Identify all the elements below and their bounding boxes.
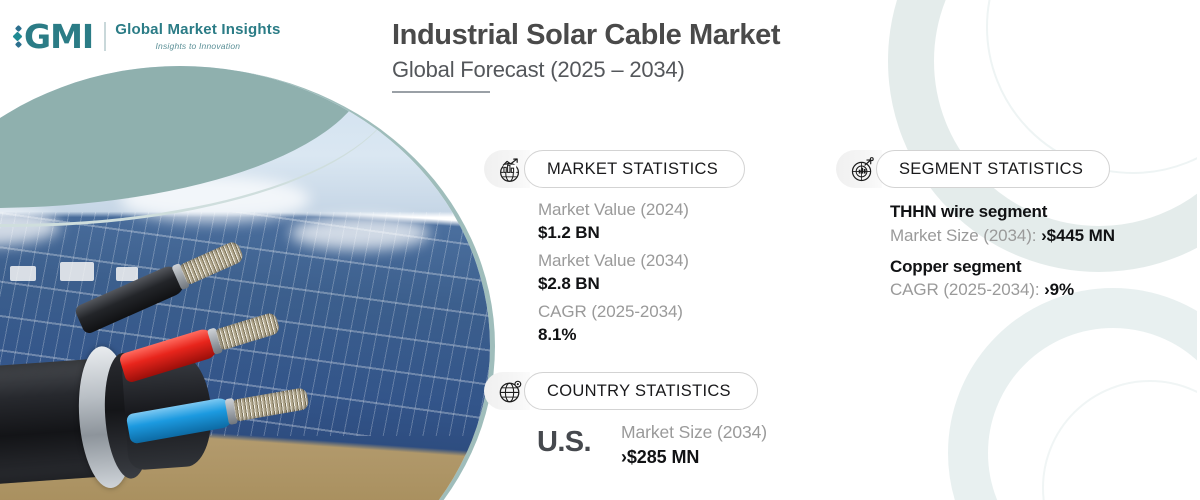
- segment-metric-value: ›9%: [1044, 280, 1074, 299]
- logo-diamond-cluster: [14, 26, 21, 47]
- horizon-building: [116, 267, 138, 281]
- segment-metric-value: ›$445 MN: [1041, 226, 1115, 245]
- segment-metric-label: Market Size (2034):: [890, 226, 1036, 245]
- hero-image-panel: sales@gminsights.com www.gminsights.com: [0, 66, 490, 500]
- logo-diamond: [15, 41, 22, 48]
- country-statistics-pill[interactable]: COUNTRY STATISTICS: [524, 372, 758, 410]
- market-statistics-pill[interactable]: MARKET STATISTICS: [524, 150, 745, 188]
- logo-tagline: Insights to Innovation: [115, 41, 280, 51]
- segment-metric-row: CAGR (2025-2034): ›9%: [890, 278, 1115, 302]
- market-statistics-rows: Market Value (2024) $1.2 BN Market Value…: [538, 199, 689, 352]
- title-underline: [392, 91, 490, 93]
- logo-diamond: [15, 25, 22, 32]
- segment-name: THHN wire segment: [890, 200, 1115, 224]
- solar-cable-illustration: [0, 282, 295, 500]
- logo-diamond: [13, 32, 23, 42]
- gmi-logo[interactable]: GMI Global Market Insights Insights to I…: [14, 20, 280, 53]
- segment-statistics-badge[interactable]: SEGMENT STATISTICS: [836, 150, 1110, 188]
- cloud-shape: [290, 216, 430, 250]
- market-row-label: Market Value (2024): [538, 199, 689, 222]
- logo-company-name: Global Market Insights: [115, 22, 280, 39]
- segment-name: Copper segment: [890, 255, 1115, 279]
- decorative-ring-top-right: [986, 0, 1200, 174]
- segment-statistics-rows: THHN wire segment Market Size (2034): ›$…: [890, 200, 1115, 309]
- horizon-building: [10, 266, 36, 281]
- segment-metric-label: CAGR (2025-2034):: [890, 280, 1039, 299]
- market-statistics-label: MARKET STATISTICS: [547, 160, 718, 179]
- country-metric-value: ›$285 MN: [621, 445, 767, 469]
- logo-mark: GMI: [14, 20, 93, 53]
- logo-initials: GMI: [24, 20, 93, 53]
- country-code: U.S.: [537, 421, 591, 457]
- market-row-label: CAGR (2025-2034): [538, 301, 689, 324]
- horizon-building: [60, 262, 94, 281]
- infographic-canvas: sales@gminsights.com www.gminsights.com: [0, 0, 1200, 500]
- segment-metric-row: Market Size (2034): ›$445 MN: [890, 224, 1115, 248]
- header-block: Industrial Solar Cable Market Global For…: [392, 18, 1012, 93]
- market-row-value: $2.8 BN: [538, 273, 689, 296]
- country-statistics-badge[interactable]: COUNTRY STATISTICS: [484, 372, 758, 410]
- page-title: Industrial Solar Cable Market: [392, 18, 1012, 53]
- country-statistics-content: U.S. Market Size (2034) ›$285 MN: [537, 421, 767, 469]
- decorative-arc-bottom-right: [948, 288, 1200, 500]
- page-subtitle: Global Forecast (2025 – 2034): [392, 57, 1012, 83]
- market-statistics-badge[interactable]: MARKET STATISTICS: [484, 150, 745, 188]
- decorative-ring-bottom-right: [1042, 380, 1200, 500]
- country-metric-label: Market Size (2034): [621, 421, 767, 445]
- logo-wordmark: Global Market Insights Insights to Innov…: [104, 22, 280, 51]
- country-statistics-label: COUNTRY STATISTICS: [547, 382, 731, 401]
- market-row-label: Market Value (2034): [538, 250, 689, 273]
- segment-statistics-pill[interactable]: SEGMENT STATISTICS: [876, 150, 1110, 188]
- segment-statistics-label: SEGMENT STATISTICS: [899, 160, 1083, 179]
- market-row-value: $1.2 BN: [538, 222, 689, 245]
- wire-copper-strands: [215, 311, 281, 350]
- market-row-value: 8.1%: [538, 324, 689, 347]
- country-metric-block: Market Size (2034) ›$285 MN: [621, 421, 767, 469]
